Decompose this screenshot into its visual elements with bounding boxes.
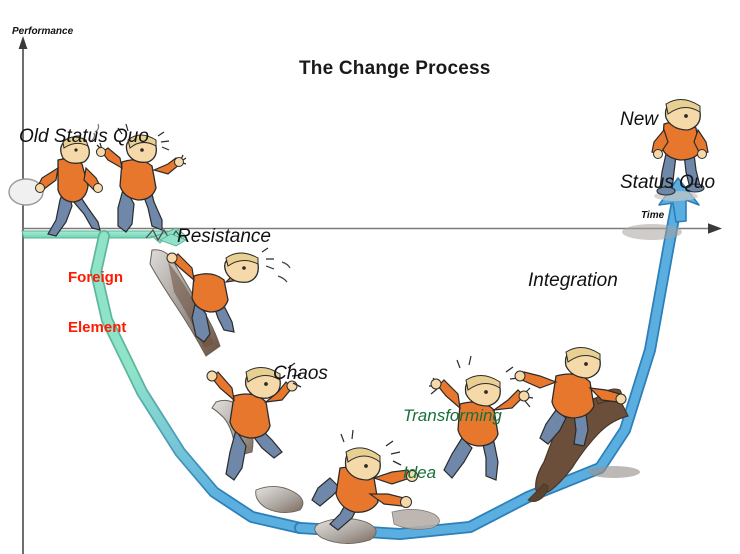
label-integration: Integration [528, 270, 618, 291]
label-foreign-element-line2: Element [68, 320, 126, 337]
label-old-status-quo: Old Status Quo [19, 126, 149, 147]
label-transforming-idea-line1: Transforming [403, 406, 502, 425]
label-transforming-idea-line2: Idea [403, 463, 502, 482]
label-new-status-quo-line2: Status Quo [620, 172, 715, 193]
label-new-status-quo-line1: New [620, 109, 715, 130]
label-foreign-element: Foreign Element [68, 236, 126, 370]
label-transforming-idea: Transforming Idea [403, 368, 502, 520]
label-new-status-quo: New Status Quo [620, 66, 715, 236]
y-axis-label: Performance [12, 26, 73, 37]
y-axis-arrowhead [19, 36, 28, 49]
label-resistance: Resistance [177, 226, 271, 247]
label-chaos: Chaos [273, 363, 328, 384]
label-foreign-element-line1: Foreign [68, 270, 126, 287]
change-process-diagram: Performance Time The Change Process Old … [0, 0, 740, 554]
diagram-title: The Change Process [299, 58, 491, 79]
